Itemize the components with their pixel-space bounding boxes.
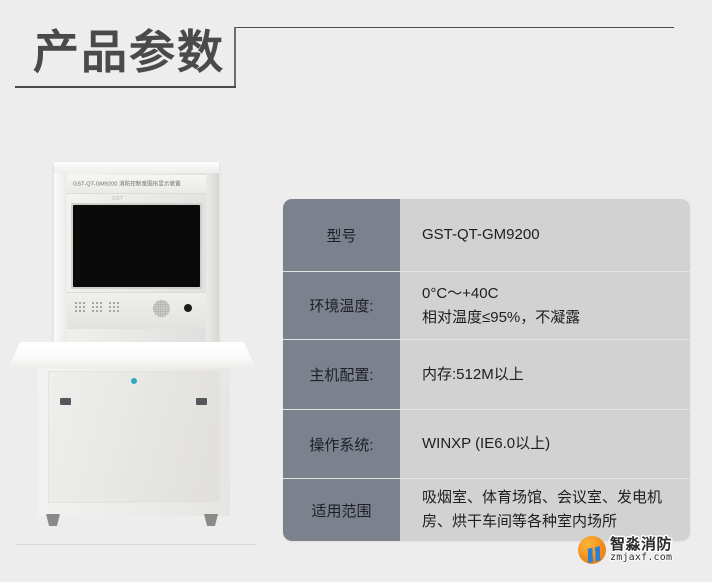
desk-top-surface: [8, 342, 256, 368]
spec-label-model: 型号: [283, 199, 400, 272]
table-row: 型号 GST-QT-GM9200: [283, 199, 690, 272]
speaker-grille-icon: [153, 300, 170, 317]
cabinet-foot-left: [46, 514, 60, 526]
cabinet-handle-left: [60, 398, 71, 405]
monitor-screen: [73, 205, 200, 287]
spec-value-line: 相对温度≤95%，不凝露: [422, 306, 690, 330]
spec-label-application-scope: 适用范围: [283, 479, 400, 541]
spec-value-line: GST-QT-GM9200: [422, 223, 690, 247]
table-row: 操作系统: WINXP (IE6.0以上): [283, 410, 690, 479]
specification-table: 型号 GST-QT-GM9200 环境温度: 0°C～+40C 相对温度≤95%…: [283, 199, 690, 541]
product-image: GST-QT-GM9200 消防控制室图形显示装置 GST: [0, 130, 272, 582]
monitor-left-pillar: [54, 162, 67, 344]
watermark-url: zmjaxf.com: [610, 553, 672, 564]
control-button-group-2: [92, 302, 106, 316]
floor-line: [16, 544, 256, 545]
spec-value-line: WINXP (IE6.0以上): [422, 432, 690, 456]
title-decoration-bottom-rule: [15, 86, 236, 88]
title-decoration-top-rule: [236, 27, 674, 28]
spec-label-host-configuration: 主机配置:: [283, 340, 400, 410]
table-row: 环境温度: 0°C～+40C 相对温度≤95%，不凝露: [283, 272, 690, 340]
spec-value-line: 内存:512M以上: [422, 363, 690, 387]
monitor-label-text: GST-QT-GM9200 消防控制室图形显示装置: [73, 180, 211, 187]
spec-value-ambient-temperature: 0°C～+40C 相对温度≤95%，不凝露: [400, 272, 690, 339]
watermark-text: 智淼消防 zmjaxf.com: [610, 537, 672, 563]
control-button-group-1: [75, 302, 89, 316]
monitor-right-pillar: [206, 162, 219, 344]
spec-value-line: 吸烟室、体育场馆、会议室、发电机: [422, 486, 690, 510]
cabinet-foot-right: [204, 514, 218, 526]
monitor-top-bar: [54, 162, 219, 173]
spec-value-line: 0°C～+40C: [422, 282, 690, 306]
brand-logo-icon: [578, 536, 606, 564]
control-button-group-3: [109, 302, 123, 316]
title-decoration-vertical-rule: [234, 27, 236, 87]
table-row: 主机配置: 内存:512M以上: [283, 340, 690, 410]
spec-value-operating-system: WINXP (IE6.0以上): [400, 410, 690, 478]
page-title: 产品参数: [33, 24, 225, 80]
spec-value-host-configuration: 内存:512M以上: [400, 340, 690, 409]
power-indicator-icon: [184, 304, 192, 312]
cabinet-lock-icon: [131, 378, 137, 384]
watermark-brand-name: 智淼消防: [610, 537, 672, 553]
spec-label-ambient-temperature: 环境温度:: [283, 272, 400, 340]
page-header: 产品参数: [0, 0, 712, 110]
monitor-brand-mark: GST: [112, 196, 123, 202]
cabinet-door: [48, 371, 220, 503]
watermark: 智淼消防 zmjaxf.com: [578, 530, 708, 570]
spec-value-model: GST-QT-GM9200: [400, 199, 690, 271]
spec-label-operating-system: 操作系统:: [283, 410, 400, 479]
cabinet-handle-right: [196, 398, 207, 405]
